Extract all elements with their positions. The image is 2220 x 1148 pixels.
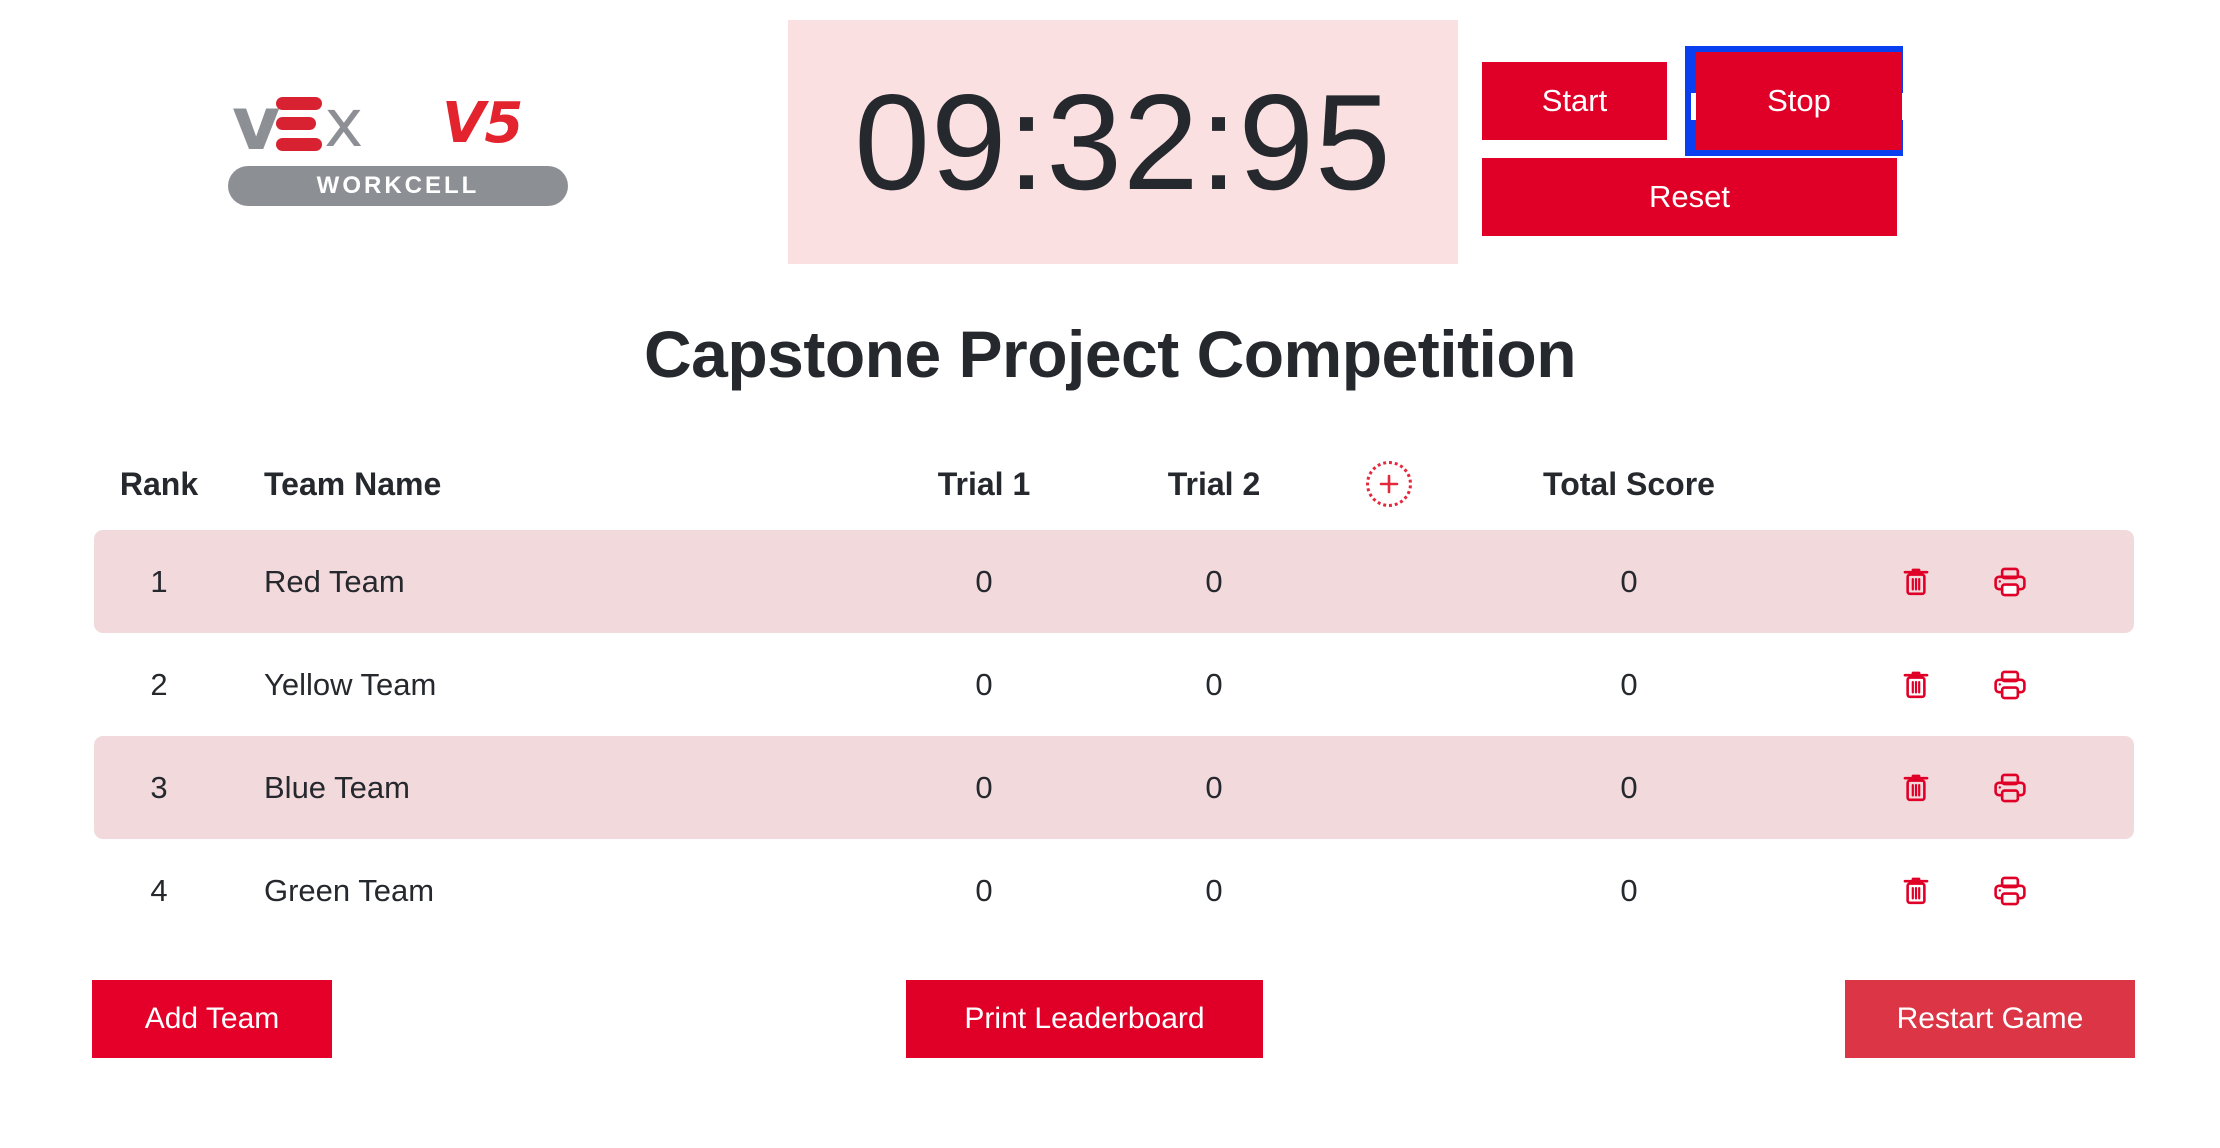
print-row-button[interactable] xyxy=(1993,566,2027,598)
print-row-button[interactable] xyxy=(1993,875,2027,907)
cell-rank: 4 xyxy=(94,873,224,909)
header-team-name: Team Name xyxy=(224,466,854,503)
printer-icon xyxy=(1993,566,2027,598)
cell-total: 0 xyxy=(1464,564,1794,600)
logo-wordmark: v x V5 xyxy=(228,88,568,160)
page-title: Capstone Project Competition xyxy=(0,316,2220,392)
table-row[interactable]: 4 Green Team 0 0 0 xyxy=(94,839,2134,942)
stop-button[interactable]: Stop xyxy=(1696,52,1902,150)
cell-total: 0 xyxy=(1464,873,1794,909)
header-trial-1: Trial 1 xyxy=(854,466,1114,503)
table-body: 1 Red Team 0 0 0 xyxy=(94,530,2134,942)
delete-row-button[interactable] xyxy=(1901,566,1931,598)
cell-trial-2[interactable]: 0 xyxy=(1114,564,1314,600)
table-row[interactable]: 1 Red Team 0 0 0 xyxy=(94,530,2134,633)
cell-trial-2[interactable]: 0 xyxy=(1114,873,1314,909)
table-row[interactable]: 2 Yellow Team 0 0 0 xyxy=(94,633,2134,736)
leaderboard-app: v x V5 WORKCELL 09:32:95 Start Stop xyxy=(0,0,2220,1148)
cell-actions xyxy=(1794,566,2134,598)
cell-trial-1[interactable]: 0 xyxy=(854,770,1114,806)
logo-vex-text: v x xyxy=(232,88,363,160)
add-team-button[interactable]: Add Team xyxy=(92,980,332,1058)
logo-v5-text: V5 xyxy=(442,96,522,152)
header-trial-2: Trial 2 xyxy=(1114,466,1314,503)
header-rank: Rank xyxy=(94,466,224,503)
cell-rank: 1 xyxy=(94,564,224,600)
stop-button-focus-gap: Stop xyxy=(1691,93,1907,120)
reset-button[interactable]: Reset xyxy=(1482,158,1897,236)
cell-trial-1[interactable]: 0 xyxy=(854,667,1114,703)
cell-trial-1[interactable]: 0 xyxy=(854,873,1114,909)
cell-actions xyxy=(1794,875,2134,907)
cell-team-name[interactable]: Red Team xyxy=(224,564,854,600)
leaderboard-table: Rank Team Name Trial 1 Trial 2 Total Sco… xyxy=(94,438,2134,942)
delete-row-button[interactable] xyxy=(1901,669,1931,701)
top-bar: v x V5 WORKCELL 09:32:95 Start Stop xyxy=(0,0,2220,268)
table-row[interactable]: 3 Blue Team 0 0 0 xyxy=(94,736,2134,839)
delete-row-button[interactable] xyxy=(1901,875,1931,907)
timer-display: 09:32:95 xyxy=(788,20,1458,264)
plus-icon xyxy=(1377,472,1401,496)
vex-e-glyph-icon xyxy=(276,97,322,151)
timer-value: 09:32:95 xyxy=(854,74,1391,210)
cell-team-name[interactable]: Blue Team xyxy=(224,770,854,806)
cell-trial-2[interactable]: 0 xyxy=(1114,667,1314,703)
cell-team-name[interactable]: Green Team xyxy=(224,873,854,909)
printer-icon xyxy=(1993,875,2027,907)
restart-game-button[interactable]: Restart Game xyxy=(1845,980,2135,1058)
vex-v5-workcell-logo: v x V5 WORKCELL xyxy=(228,88,568,206)
cell-trial-2[interactable]: 0 xyxy=(1114,770,1314,806)
cell-actions xyxy=(1794,669,2134,701)
cell-rank: 2 xyxy=(94,667,224,703)
delete-row-button[interactable] xyxy=(1901,772,1931,804)
printer-icon xyxy=(1993,772,2027,804)
cell-rank: 3 xyxy=(94,770,224,806)
footer-actions: Add Team Print Leaderboard Restart Game xyxy=(0,980,2220,1070)
logo-workcell-pill: WORKCELL xyxy=(228,166,568,206)
table-header-row: Rank Team Name Trial 1 Trial 2 Total Sco… xyxy=(94,438,2134,530)
trash-icon xyxy=(1901,772,1931,804)
cell-actions xyxy=(1794,772,2134,804)
print-row-button[interactable] xyxy=(1993,772,2027,804)
printer-icon xyxy=(1993,669,2027,701)
logo-letter-x: x xyxy=(324,91,363,157)
trash-icon xyxy=(1901,875,1931,907)
trash-icon xyxy=(1901,669,1931,701)
logo-workcell-label: WORKCELL xyxy=(317,172,480,200)
print-leaderboard-button[interactable]: Print Leaderboard xyxy=(906,980,1263,1058)
header-add-trial-cell xyxy=(1314,461,1464,507)
cell-team-name[interactable]: Yellow Team xyxy=(224,667,854,703)
cell-total: 0 xyxy=(1464,667,1794,703)
trash-icon xyxy=(1901,566,1931,598)
logo-letter-v: v xyxy=(232,87,278,161)
cell-trial-1[interactable]: 0 xyxy=(854,564,1114,600)
stop-button-focus-ring: Stop xyxy=(1685,46,1903,156)
start-button[interactable]: Start xyxy=(1482,62,1667,140)
header-total-score: Total Score xyxy=(1464,466,1794,503)
cell-total: 0 xyxy=(1464,770,1794,806)
print-row-button[interactable] xyxy=(1993,669,2027,701)
add-trial-button[interactable] xyxy=(1366,461,1412,507)
timer-controls: Start Stop Reset xyxy=(1482,46,1902,226)
